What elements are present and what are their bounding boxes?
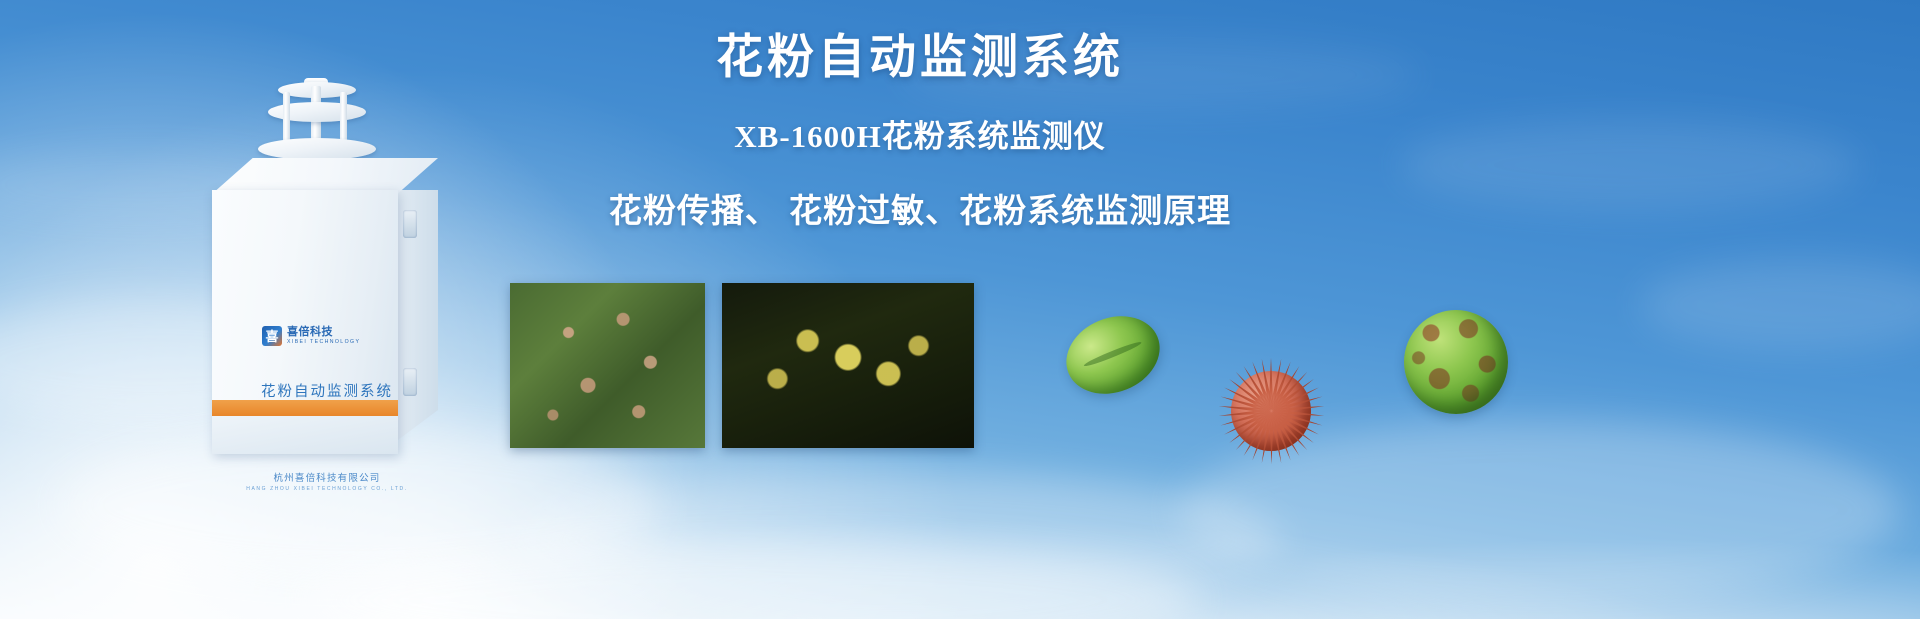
page-title: 花粉自动监测系统	[600, 30, 1240, 85]
cloud-decoration	[520, 470, 1280, 610]
device-brand-name-en: XIBEI TECHNOLOGY	[287, 340, 360, 345]
xibei-logo-icon: 喜	[262, 326, 282, 346]
device-company-name-cn: 杭州喜倍科技有限公司	[234, 470, 420, 484]
device-company-name-en: HANG ZHOU XIBEI TECHNOLOGY CO., LTD.	[234, 486, 420, 492]
device-panel-title: 花粉自动监测系统	[234, 380, 420, 401]
headline-block: 花粉自动监测系统 XB-1600H花粉系统监测仪 花粉传播、 花粉过敏、花粉系统…	[600, 30, 1240, 232]
red-spiky-pollen-grain-icon	[1218, 358, 1324, 464]
yellow-catkin-pollen-photo	[722, 283, 974, 448]
device-brand-name-cn: 喜倍科技	[287, 327, 360, 339]
cabinet-top-panel	[212, 158, 438, 194]
cabinet-lower-panel	[212, 416, 398, 454]
sampler-disc-bottom-icon	[258, 138, 376, 160]
green-warty-pollen-grain-icon	[1404, 310, 1508, 414]
device-brand-text: 喜倍科技 XIBEI TECHNOLOGY	[287, 327, 360, 346]
green-oval-pollen-grain-icon	[1055, 303, 1172, 408]
cloud-decoration	[1400, 120, 1860, 210]
pollen-monitoring-banner: 喜 喜倍科技 XIBEI TECHNOLOGY 花粉自动监测系统 XB-1600…	[0, 0, 1920, 619]
cloud-decoration	[300, 540, 1200, 619]
cabinet-latch-bottom-icon	[403, 368, 417, 396]
device-brand-logo: 喜 喜倍科技 XIBEI TECHNOLOGY	[262, 326, 360, 346]
cabinet-orange-base-stripe	[212, 400, 398, 416]
tagline: 花粉传播、 花粉过敏、花粉系统监测原理	[600, 184, 1240, 232]
cabinet-latch-top-icon	[403, 210, 417, 238]
cloud-decoration	[1640, 260, 1920, 350]
monitoring-device-illustration: 喜 喜倍科技 XIBEI TECHNOLOGY 花粉自动监测系统 XB-1600…	[190, 78, 470, 428]
product-subtitle: XB-1600H花粉系统监测仪	[600, 111, 1240, 156]
cypress-pollen-cones-photo	[510, 283, 705, 448]
